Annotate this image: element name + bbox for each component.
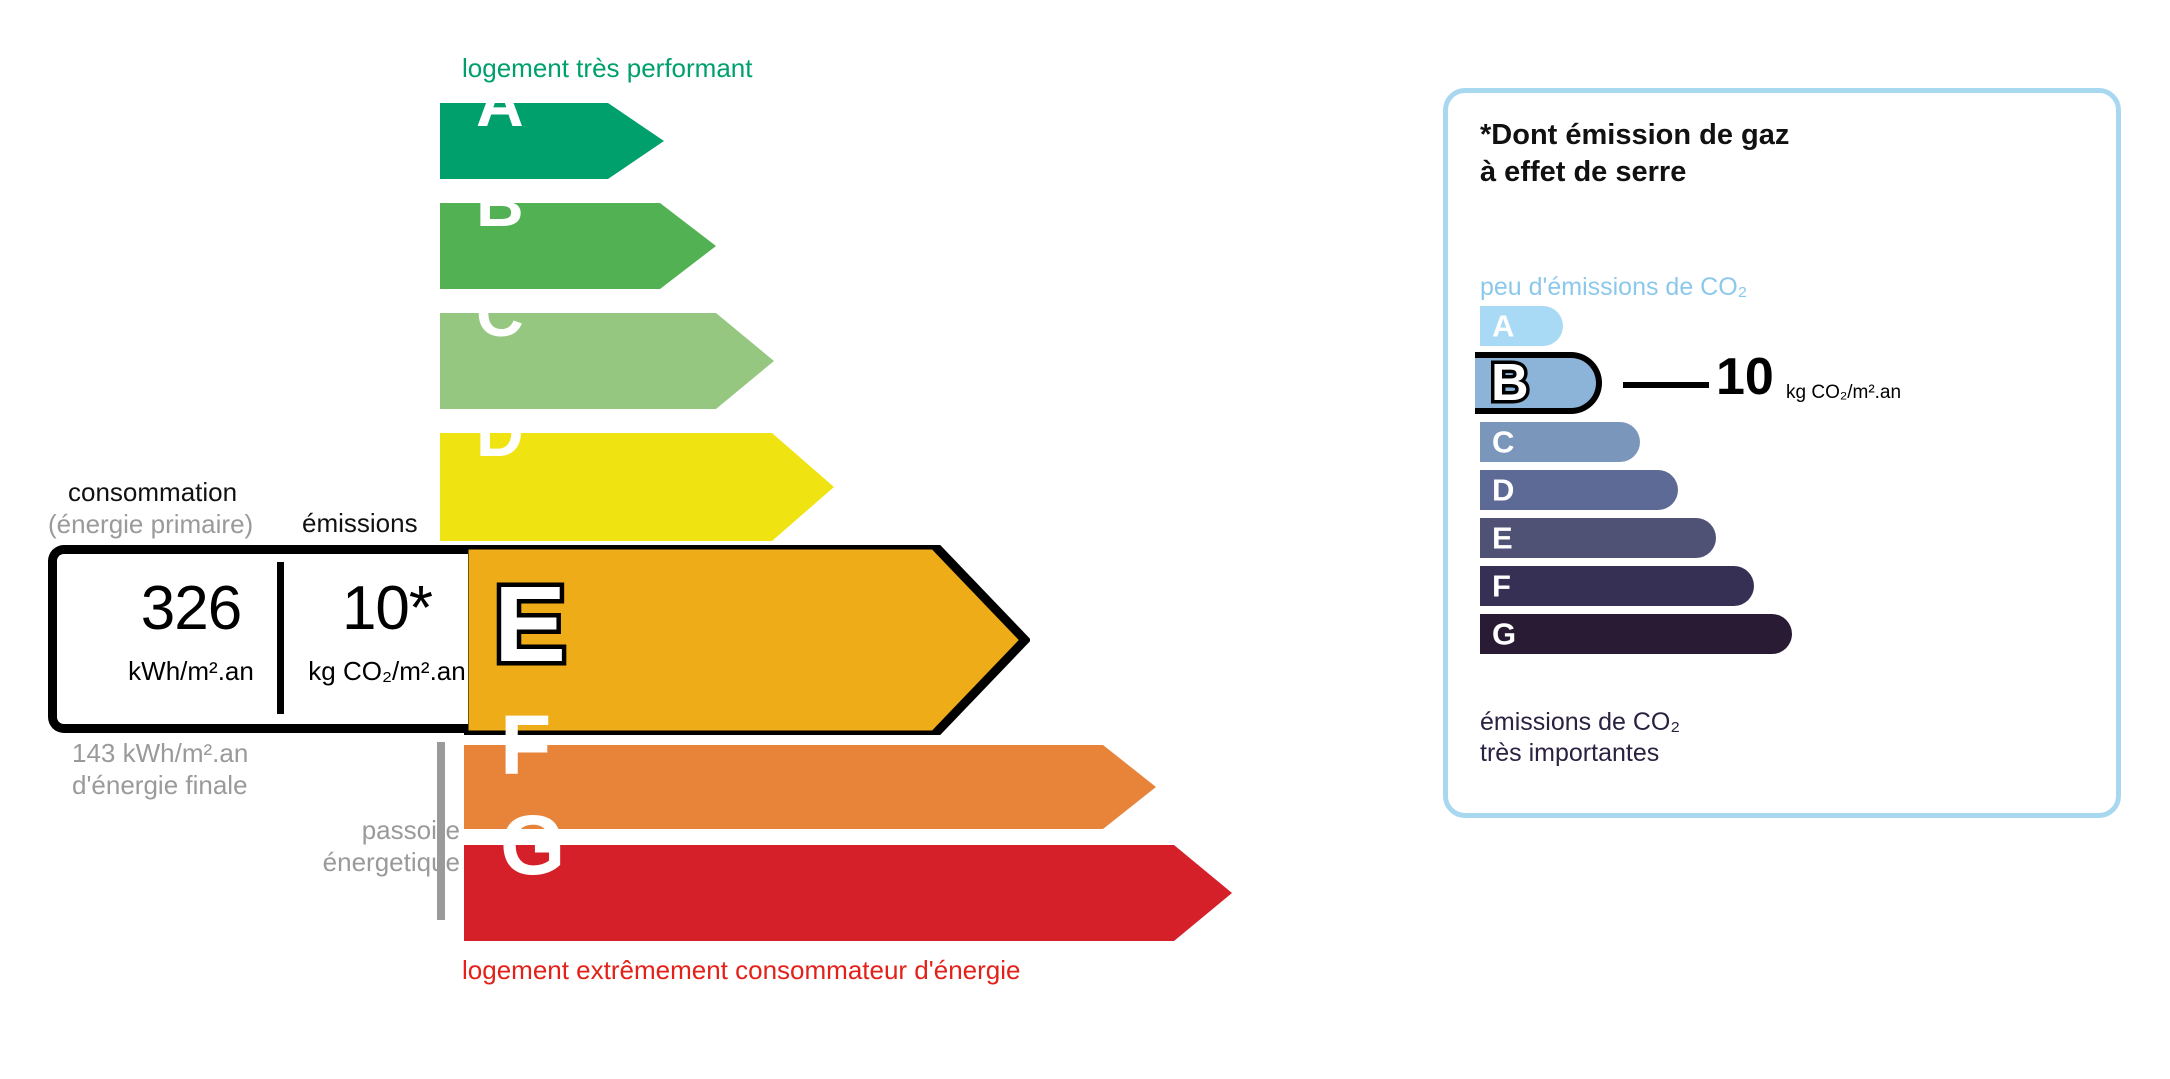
co2-bar-letter: C [1492,427,1514,458]
passoire-energetique-bar [437,742,445,920]
co2-bar-letter: D [1492,475,1514,506]
emission-unit: kg CO₂/m².an [297,658,477,684]
label-emissions: émissions [302,508,418,539]
co2-bar-b-highlighted: B [1475,352,1602,414]
emission-value-cell: 10* kg CO₂/m².an [297,554,477,724]
band-arrow-shape [440,313,774,409]
band-arrow-shape [440,433,834,541]
emission-value: 10* [297,578,477,640]
energy-bottom-caption: logement extrêmement consommateur d'éner… [462,955,1020,986]
band-arrow-shape [464,745,1156,829]
primary-energy-value: 326 [57,578,325,640]
dpe-label: logement très performant A B C [0,0,2170,1079]
co2-bar-letter: F [1492,571,1511,602]
co2-panel-title: *Dont émission de gaz à effet de serre [1480,117,1789,191]
co2-bar-letter: E [1492,523,1513,554]
band-arrow-shape [440,103,664,179]
co2-current-class-letter: B [1491,357,1529,409]
energy-top-caption: logement très performant [462,53,752,84]
co2-emissions-panel: *Dont émission de gaz à effet de serre p… [1443,88,2121,818]
energy-current-class-letter: E [494,570,566,678]
band-arrow-shape [440,203,716,289]
co2-bar-e: E [1480,518,1716,558]
label-energie-primaire: (énergie primaire) [48,509,253,540]
co2-bar-g: G [1480,614,1792,654]
passoire-energetique-label: passoire énergetique [300,815,460,878]
primary-energy-value-cell: 326 kWh/m².an [57,554,325,724]
values-box: 326 kWh/m².an 10* kg CO₂/m².an [48,545,468,733]
primary-energy-unit: kWh/m².an [57,658,325,684]
co2-bottom-caption: émissions de CO₂ très importantes [1480,707,1680,768]
co2-bar-letter: G [1492,619,1516,650]
label-consommation: consommation [68,477,237,508]
co2-leader-line [1623,382,1709,388]
energy-consumption-panel: logement très performant A B C [0,0,1400,1079]
co2-top-caption: peu d'émissions de CO₂ [1480,273,1747,302]
co2-bar-f: F [1480,566,1754,606]
co2-bar-d: D [1480,470,1678,510]
band-arrow-shape [464,845,1232,941]
value-divider [277,562,284,714]
co2-bar-c: C [1480,422,1640,462]
final-energy-note: 143 kWh/m².an d'énergie finale [72,738,248,801]
co2-value-unit: kg CO₂/m².an [1786,383,1901,402]
co2-bar-letter: A [1492,311,1514,342]
co2-bar-a: A [1480,306,1563,346]
co2-value: 10 [1716,351,1774,403]
